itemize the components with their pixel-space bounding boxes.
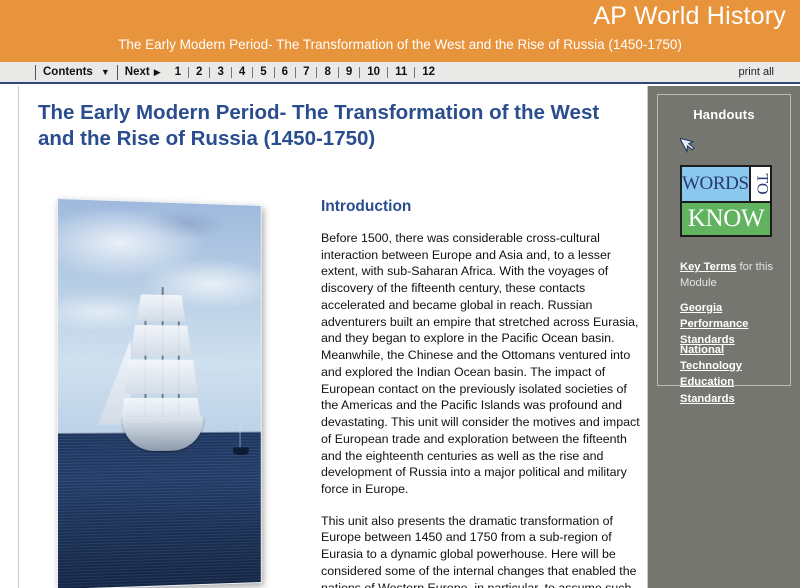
page-link-7[interactable]: 7 <box>302 66 310 78</box>
site-title: AP World History <box>593 2 786 31</box>
nav-left-group: Contents ▼ Next ▶ 1 2 3 4 5 6 7 8 9 10 <box>28 63 436 81</box>
to-text-rotated: TO <box>751 167 772 201</box>
key-terms-link[interactable]: Key Terms <box>680 261 736 273</box>
sail-top <box>137 294 186 322</box>
nav-divider <box>252 67 253 78</box>
article-column: Introduction Before 1500, there was cons… <box>321 198 641 588</box>
nav-divider <box>188 67 189 78</box>
arrow-right-icon[interactable]: ▶ <box>154 67 161 78</box>
nav-divider <box>387 67 388 78</box>
intro-paragraph-1: Before 1500, there was considerable cros… <box>321 230 641 498</box>
page-link-5[interactable]: 5 <box>259 66 267 78</box>
words-text: WORDS <box>682 167 751 201</box>
georgia-performance-standards-link[interactable]: Georgia Performance Standards <box>680 302 748 346</box>
nav-divider <box>414 67 415 78</box>
national-technology-education-standards-link[interactable]: National Technology Education Standards <box>680 344 742 405</box>
handouts-sidebar: Handouts WORDS TO KNOW Key Terms for thi… <box>648 86 800 588</box>
print-all-button[interactable]: print all <box>739 66 774 78</box>
site-banner: AP World History The Early Modern Period… <box>0 0 800 62</box>
page-link-8[interactable]: 8 <box>323 66 331 78</box>
small-boat <box>233 447 249 455</box>
intro-paragraph-2: This unit also presents the dramatic tra… <box>321 513 641 588</box>
words-to-know-graphic[interactable]: WORDS TO KNOW <box>680 165 772 237</box>
page-link-2[interactable]: 2 <box>195 66 203 78</box>
unit-subtitle: The Early Modern Period- The Transformat… <box>0 37 800 52</box>
page-title: The Early Modern Period- The Transformat… <box>38 100 623 152</box>
nav-divider <box>359 67 360 78</box>
mouse-pointer-icon <box>680 133 696 153</box>
handouts-panel: Handouts WORDS TO KNOW Key Terms for thi… <box>657 94 791 386</box>
nav-divider <box>117 65 118 80</box>
key-terms-row: Key Terms for this Module <box>680 259 788 291</box>
sail-upper <box>131 325 192 356</box>
national-standards-row: National Technology Education Standards <box>680 342 788 407</box>
nav-divider <box>35 65 36 80</box>
section-heading-introduction: Introduction <box>321 198 641 216</box>
page-link-4[interactable]: 4 <box>238 66 246 78</box>
page-link-6[interactable]: 6 <box>281 66 289 78</box>
chevron-down-icon[interactable]: ▼ <box>101 67 110 77</box>
page-link-12[interactable]: 12 <box>421 66 436 78</box>
nav-divider <box>295 67 296 78</box>
sail-mid <box>124 359 197 394</box>
content-area: The Early Modern Period- The Transformat… <box>18 86 648 588</box>
page-link-3[interactable]: 3 <box>216 66 224 78</box>
nav-divider <box>209 67 210 78</box>
sea-layer <box>58 432 261 588</box>
know-text: KNOW <box>682 201 770 235</box>
tall-ship-photo <box>57 198 285 588</box>
nav-divider <box>274 67 275 78</box>
nav-divider <box>338 67 339 78</box>
page-link-1[interactable]: 1 <box>174 66 182 78</box>
nav-spacer <box>167 67 168 78</box>
page-link-9[interactable]: 9 <box>345 66 353 78</box>
nav-divider <box>316 67 317 78</box>
small-boat-mast <box>239 420 240 446</box>
contents-menu-button[interactable]: Contents <box>43 66 93 78</box>
page-link-10[interactable]: 10 <box>366 66 381 78</box>
words-to-know-top-row: WORDS TO <box>682 167 770 201</box>
next-button[interactable]: Next <box>125 66 150 78</box>
page-link-11[interactable]: 11 <box>394 66 408 78</box>
nav-divider <box>231 67 232 78</box>
navigation-bar: Contents ▼ Next ▶ 1 2 3 4 5 6 7 8 9 10 <box>0 62 800 84</box>
page-root: AP World History The Early Modern Period… <box>0 0 800 588</box>
handouts-heading: Handouts <box>658 107 790 122</box>
tall-ship-image-frame <box>57 198 262 588</box>
